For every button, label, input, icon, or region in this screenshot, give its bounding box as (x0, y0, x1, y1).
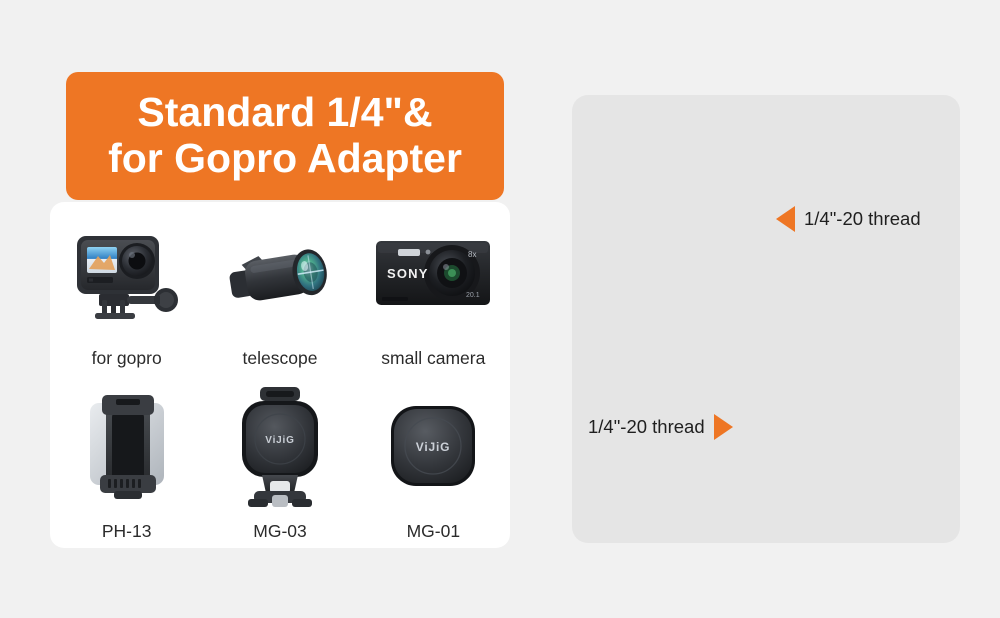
detail-photos-panel (572, 95, 960, 543)
headline-line-1: Standard 1/4"& (137, 90, 432, 136)
product-grid: for gopro (50, 202, 510, 548)
product-cell-mg-03: ViJiG MG-03 (203, 375, 356, 548)
brand-mark-text: ViJiG (416, 440, 450, 454)
product-cell-for-gopro: for gopro (50, 202, 203, 375)
svg-text:20.1: 20.1 (466, 292, 480, 299)
product-label: MG-01 (407, 521, 460, 542)
product-feature-graphic: Standard 1/4"& for Gopro Adapter (0, 0, 1000, 618)
magnetic-pad-icon: ViJiG (357, 375, 510, 517)
headline-banner: Standard 1/4"& for Gopro Adapter (66, 72, 504, 200)
callout-bottom-text: 1/4"-20 thread (588, 416, 705, 438)
compatible-products-card: for gopro (50, 202, 510, 548)
headline-line-2: for Gopro Adapter (108, 136, 462, 182)
product-label: MG-03 (253, 521, 306, 542)
callout-top: 1/4"-20 thread (776, 206, 921, 232)
action-camera-icon (50, 202, 203, 344)
brand-mark-text: ViJiG (265, 435, 294, 446)
triangle-right-icon (714, 414, 733, 440)
product-label: PH-13 (102, 521, 152, 542)
camera-brand-text: SONY (387, 266, 429, 281)
product-cell-ph-13: PH-13 (50, 375, 203, 548)
monocular-telescope-icon (203, 202, 356, 344)
left-column: Standard 1/4"& for Gopro Adapter (0, 0, 540, 618)
product-cell-small-camera: SONY 8x 20.1 small camera (357, 202, 510, 375)
product-label: small camera (381, 348, 485, 369)
product-label: for gopro (92, 348, 162, 369)
svg-text:8x: 8x (468, 250, 476, 259)
product-cell-mg-01: ViJiG MG-01 (357, 375, 510, 548)
magnetic-pad-clamp-icon: ViJiG (203, 375, 356, 517)
phone-clamp-icon (50, 375, 203, 517)
callout-bottom: 1/4"-20 thread (588, 414, 733, 440)
triangle-left-icon (776, 206, 795, 232)
callout-top-text: 1/4"-20 thread (804, 208, 921, 230)
product-cell-telescope: telescope (203, 202, 356, 375)
product-label: telescope (243, 348, 318, 369)
compact-camera-icon: SONY 8x 20.1 (357, 202, 510, 344)
